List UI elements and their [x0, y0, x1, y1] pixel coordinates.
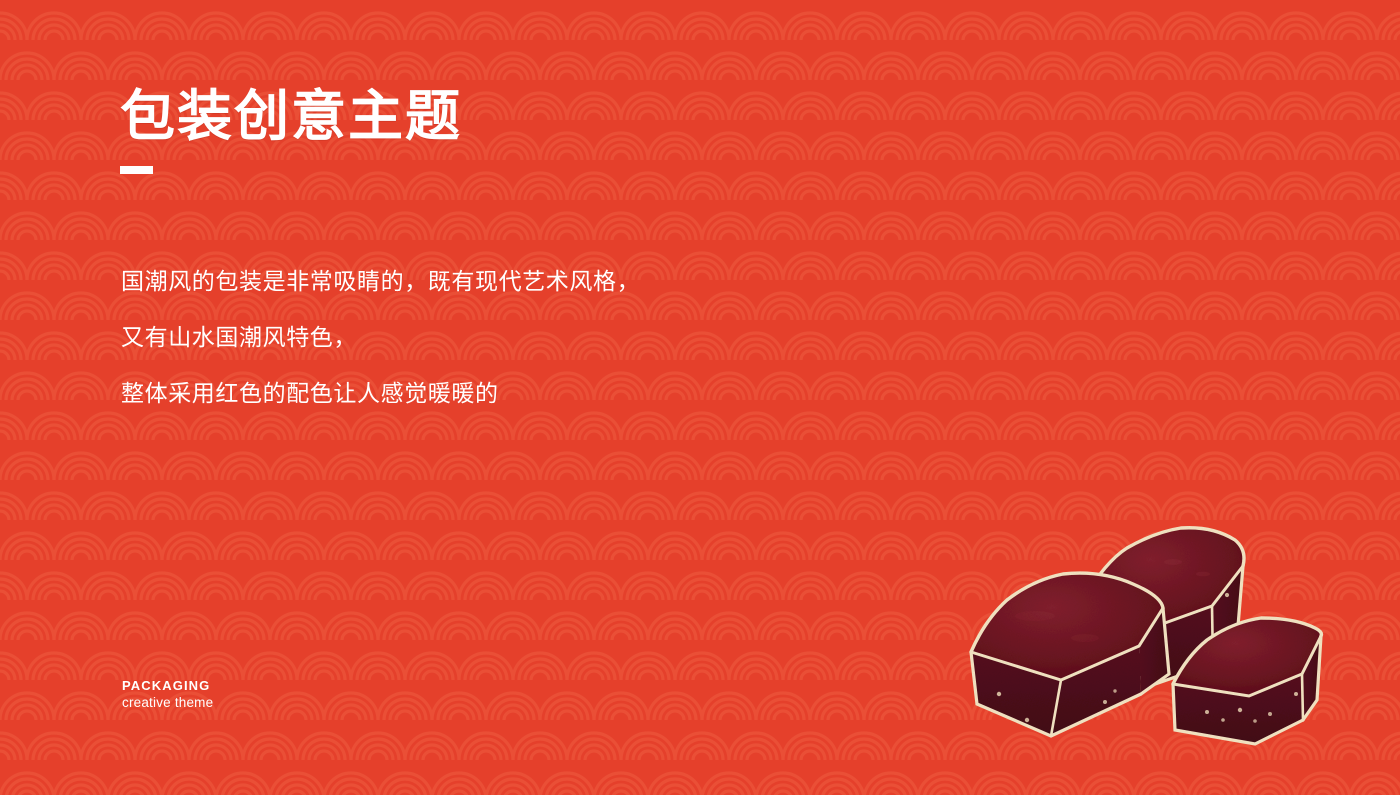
- title-block: 包装创意主题: [120, 82, 462, 174]
- body-line-3: 整体采用红色的配色让人感觉暖暖的: [121, 365, 640, 421]
- body-line-2: 又有山水国潮风特色，: [121, 309, 640, 365]
- footer-secondary-label: creative theme: [122, 694, 213, 711]
- slide-canvas: 包装创意主题 国潮风的包装是非常吸睛的，既有现代艺术风格， 又有山水国潮风特色，…: [0, 0, 1400, 795]
- body-text-block: 国潮风的包装是非常吸睛的，既有现代艺术风格， 又有山水国潮风特色， 整体采用红色…: [121, 253, 640, 421]
- page-title: 包装创意主题: [120, 82, 462, 150]
- candy-cubes-illustration: [955, 488, 1335, 750]
- candy-cube-left: [971, 573, 1169, 736]
- title-divider-dash: [120, 166, 153, 174]
- body-line-1: 国潮风的包装是非常吸睛的，既有现代艺术风格，: [121, 253, 640, 309]
- footer-primary-label: PACKAGING: [122, 677, 213, 694]
- footer-brand: PACKAGING creative theme: [122, 677, 213, 711]
